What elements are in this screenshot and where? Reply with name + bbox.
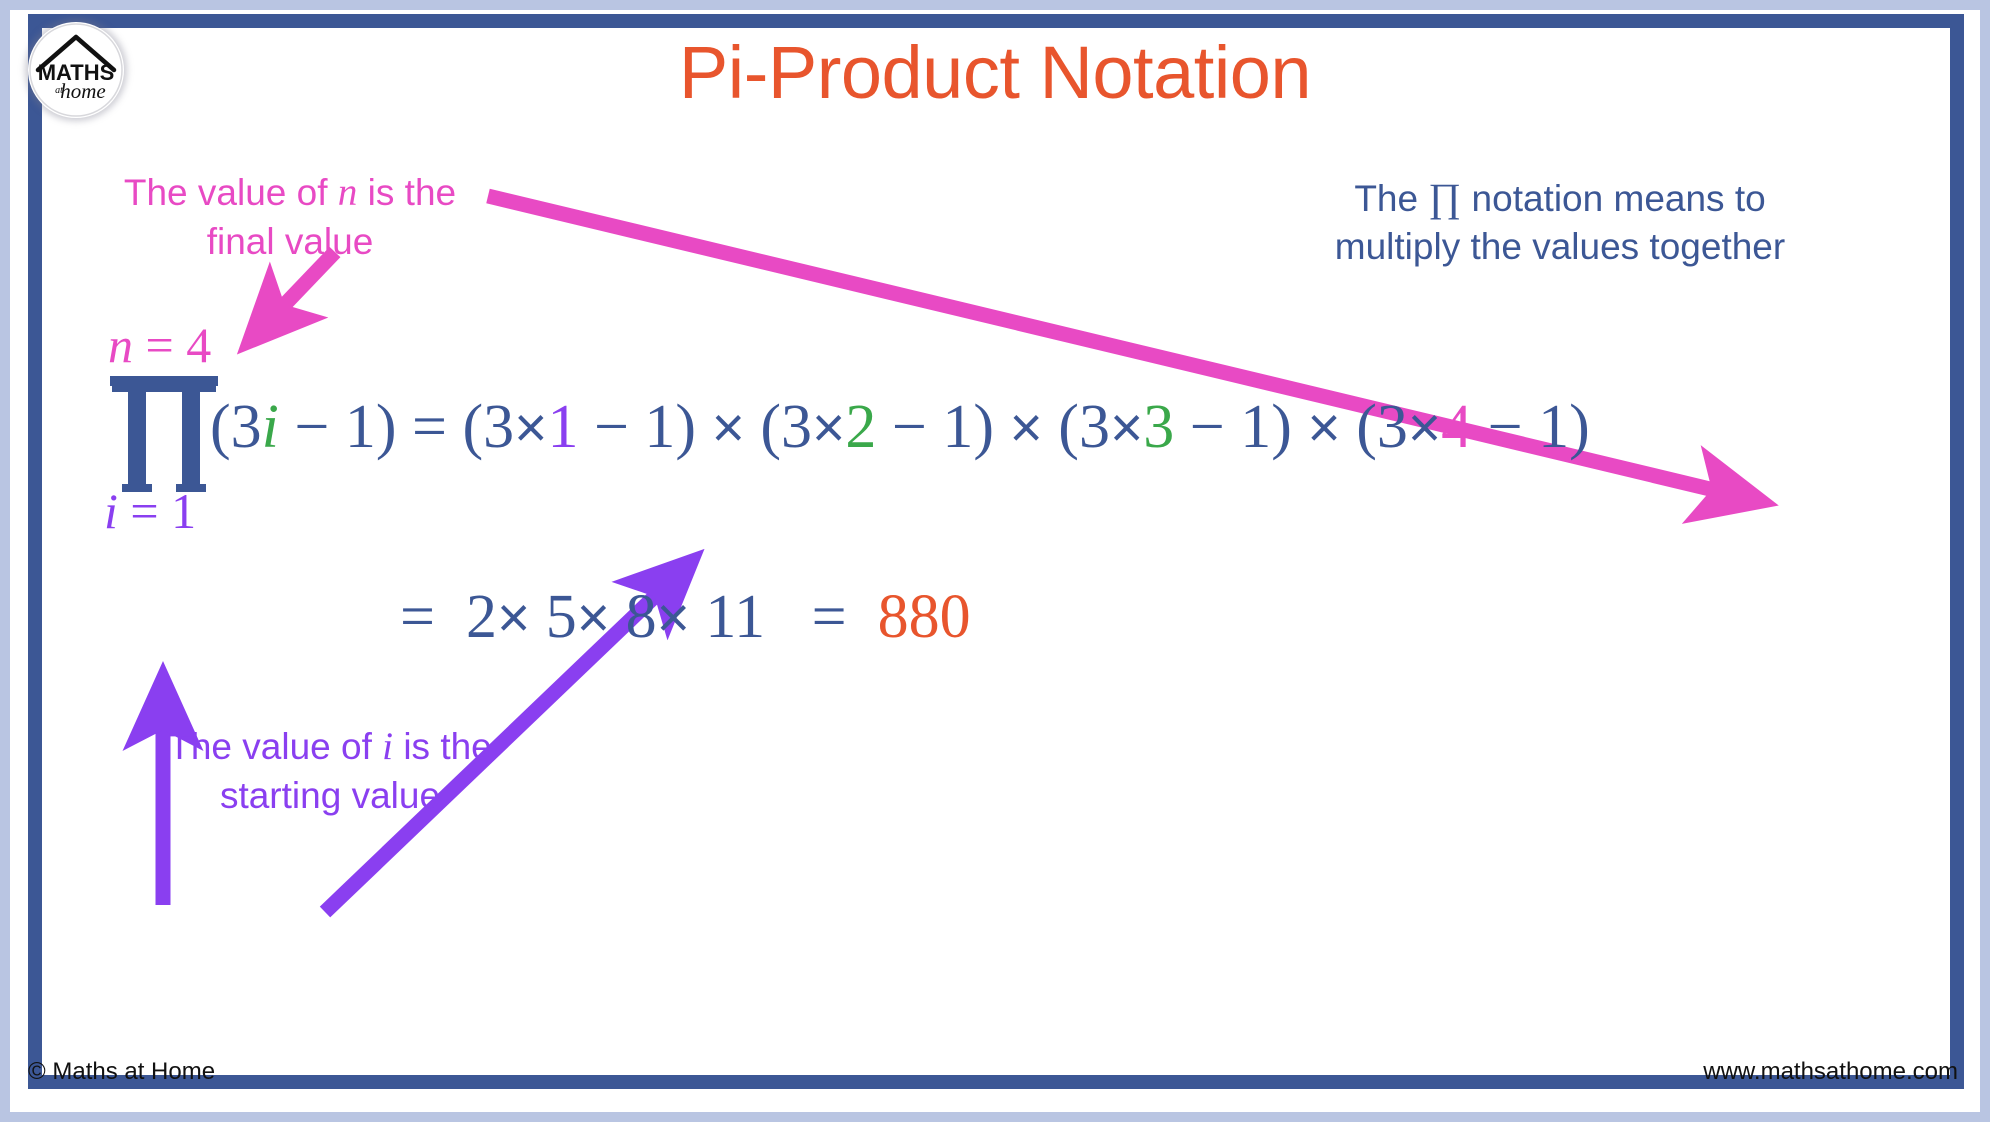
- annotation-pi-suffix: notation means to: [1461, 178, 1765, 219]
- result-line: = 2× 5× 8× 11 = 880: [400, 582, 971, 653]
- result-times-icon-2: ×: [577, 586, 610, 650]
- lower-limit: i = 1: [104, 482, 196, 540]
- term3-times-icon: ×: [1110, 396, 1143, 460]
- term3-tail: − 1): [1174, 393, 1292, 461]
- general-term-tail: − 1): [279, 393, 397, 461]
- expansion-term-4: (3×4 − 1): [1356, 393, 1590, 461]
- logo-text-home: home: [60, 79, 106, 103]
- main-equals: =: [412, 393, 447, 461]
- upper-limit-value: 4: [186, 317, 211, 373]
- annotation-n-variable: n: [338, 171, 358, 214]
- annotation-pi-line2: multiply the values together: [1335, 226, 1785, 267]
- annotation-n-prefix: The value of: [124, 172, 338, 213]
- main-expression: (3i − 1) = (3×1 − 1) × (3×2 − 1) × (3×3 …: [210, 392, 1590, 463]
- term1-tail: − 1): [578, 393, 696, 461]
- result-equals-1: =: [400, 583, 435, 651]
- big-product-symbol: [108, 372, 220, 499]
- annotation-n-line2: final value: [207, 221, 374, 262]
- result-answer: 880: [878, 583, 971, 651]
- term1-times-icon: ×: [514, 396, 547, 460]
- term3-value: 3: [1143, 393, 1174, 461]
- result-factor-4: 11: [705, 583, 765, 651]
- expansion-term-1: (3×1 − 1): [462, 393, 696, 461]
- general-term-index-variable: i: [262, 393, 279, 461]
- result-times-icon-3: ×: [657, 586, 690, 650]
- result-factor-2: 5: [546, 583, 577, 651]
- term1-value: 1: [547, 393, 578, 461]
- expansion-term-3: (3×3 − 1): [1058, 393, 1292, 461]
- annotation-n-final-value: The value of n is the final value: [95, 168, 485, 266]
- infographic-page: MATHS at home Pi-Product Notation The va…: [0, 0, 1990, 1122]
- result-times-icon-1: ×: [497, 586, 530, 650]
- upper-limit: n = 4: [108, 316, 211, 374]
- upper-limit-equals: =: [146, 317, 174, 373]
- result-factor-3: 8: [626, 583, 657, 651]
- term2-open: (3: [760, 393, 812, 461]
- expansion-separator-1: ×: [712, 396, 745, 460]
- result-equals-2: =: [812, 583, 847, 651]
- expansion-separator-3: ×: [1307, 396, 1340, 460]
- annotation-i-prefix: The value of: [168, 726, 382, 767]
- expansion-separator-2: ×: [1009, 396, 1042, 460]
- logo-icon: MATHS at home: [28, 22, 124, 118]
- maths-at-home-logo: MATHS at home: [28, 22, 124, 118]
- website-url: www.mathsathome.com: [1703, 1058, 1958, 1086]
- annotation-pi-prefix: The: [1354, 178, 1428, 219]
- lower-limit-value: 1: [171, 483, 196, 539]
- page-title: Pi-Product Notation: [0, 30, 1990, 115]
- term4-open: (3: [1356, 393, 1408, 461]
- term1-open: (3: [462, 393, 514, 461]
- term4-value: 4: [1441, 393, 1472, 461]
- annotation-i-starting-value: The value of i is the starting value: [110, 722, 550, 820]
- lower-limit-variable: i: [104, 483, 118, 539]
- term3-open: (3: [1058, 393, 1110, 461]
- result-factor-1: 2: [466, 583, 497, 651]
- copyright-text: © Maths at Home: [28, 1058, 215, 1086]
- term2-value: 2: [845, 393, 876, 461]
- annotation-i-variable: i: [382, 725, 393, 768]
- upper-limit-variable: n: [108, 317, 133, 373]
- annotation-pi-meaning: The ∏ notation means to multiply the val…: [1250, 172, 1870, 270]
- annotation-i-suffix: is the: [393, 726, 492, 767]
- lower-limit-equals: =: [130, 483, 158, 539]
- general-term-open: (3: [210, 393, 262, 461]
- term2-times-icon: ×: [812, 396, 845, 460]
- term4-tail: − 1): [1472, 393, 1590, 461]
- annotation-n-suffix: is the: [357, 172, 456, 213]
- expansion-term-2: (3×2 − 1): [760, 393, 994, 461]
- product-symbol-icon: ∏: [1428, 175, 1461, 220]
- term2-tail: − 1): [876, 393, 994, 461]
- product-pi-icon: [108, 372, 220, 494]
- term4-times-icon: ×: [1408, 396, 1441, 460]
- annotation-i-line2: starting value: [220, 775, 440, 816]
